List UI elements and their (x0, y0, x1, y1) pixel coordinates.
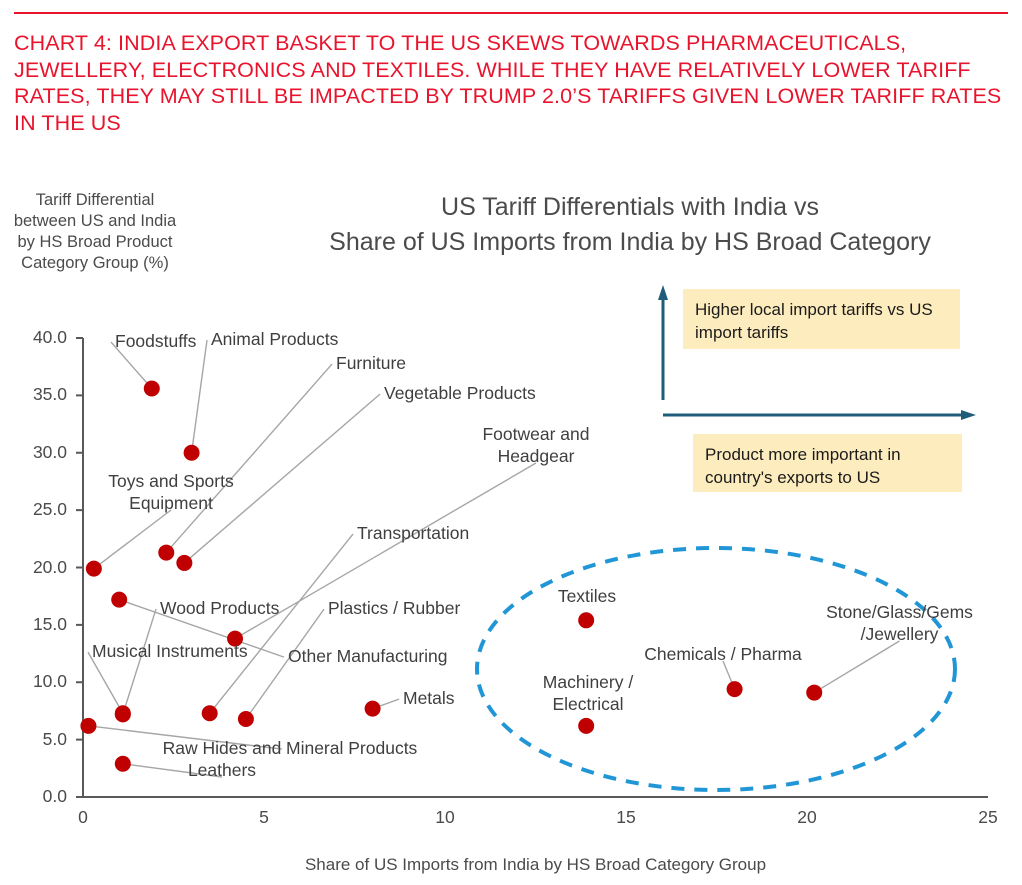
data-point-marker (115, 705, 131, 721)
data-point-marker (806, 685, 822, 701)
data-point-label: Transportation (357, 522, 497, 544)
data-point-label: Animal Products (211, 328, 361, 350)
callout-higher-local-tariffs: Higher local import tariffs vs US import… (683, 289, 960, 349)
data-point-marker (115, 756, 131, 772)
leader-line (193, 340, 207, 446)
x-tick-label: 20 (777, 807, 837, 828)
data-point-label: Raw Hides and Leathers (152, 737, 292, 781)
data-point-marker (176, 555, 192, 571)
data-point-label: Textiles (551, 585, 623, 607)
y-tick-label: 40.0 (5, 327, 67, 348)
x-tick-label: 10 (415, 807, 475, 828)
data-point-label: Foodstuffs (115, 330, 215, 352)
leader-line (379, 699, 399, 706)
y-tick-label: 20.0 (5, 557, 67, 578)
data-point-label: Machinery / Electrical (534, 671, 642, 715)
y-tick-label: 25.0 (5, 499, 67, 520)
y-tick-label: 0.0 (5, 786, 67, 807)
data-point-label: Chemicals / Pharma (630, 643, 816, 665)
chart-page: CHART 4: INDIA EXPORT BASKET TO THE US S… (0, 0, 1022, 885)
data-point-label: Musical Instruments (92, 640, 272, 662)
y-tick-label: 15.0 (5, 614, 67, 635)
y-tick-label: 10.0 (5, 671, 67, 692)
data-point-marker (158, 545, 174, 561)
y-tick-label: 30.0 (5, 442, 67, 463)
data-point-marker (727, 681, 743, 697)
data-point-label: Vegetable Products (384, 382, 569, 404)
y-tick-label: 35.0 (5, 384, 67, 405)
x-tick-label: 25 (958, 807, 1018, 828)
data-point-label: Furniture (336, 352, 431, 374)
data-point-marker (111, 592, 127, 608)
data-point-marker (86, 561, 102, 577)
data-point-label: Wood Products (160, 597, 300, 619)
plot-axes (76, 338, 988, 797)
y-tick-label: 5.0 (5, 729, 67, 750)
data-point-marker (238, 711, 254, 727)
data-point-label: Mineral Products (286, 737, 436, 759)
data-point-marker (144, 380, 160, 396)
data-point-marker (184, 445, 200, 461)
data-point-marker (80, 718, 96, 734)
data-point-label: Metals (403, 687, 473, 709)
x-tick-label: 5 (234, 807, 294, 828)
x-tick-label: 0 (53, 807, 113, 828)
leader-line (820, 641, 899, 689)
data-point-label: Footwear and Headgear (472, 423, 600, 467)
highlight-ellipse (477, 548, 955, 790)
data-point-label: Other Manufacturing (288, 645, 483, 667)
x-tick-label: 15 (596, 807, 656, 828)
x-axis-title: Share of US Imports from India by HS Bro… (83, 855, 988, 875)
callout-product-importance: Product more important in country's expo… (693, 434, 962, 492)
data-point-marker (365, 701, 381, 717)
leader-line (214, 534, 353, 708)
data-point-marker (578, 612, 594, 628)
data-point-label: Toys and Sports Equipment (90, 470, 252, 514)
data-point-label: Plastics / Rubber (328, 597, 486, 619)
data-point-marker (202, 705, 218, 721)
data-point-marker (578, 718, 594, 734)
data-point-label: Stone/Glass/Gems /Jewellery (812, 601, 987, 645)
